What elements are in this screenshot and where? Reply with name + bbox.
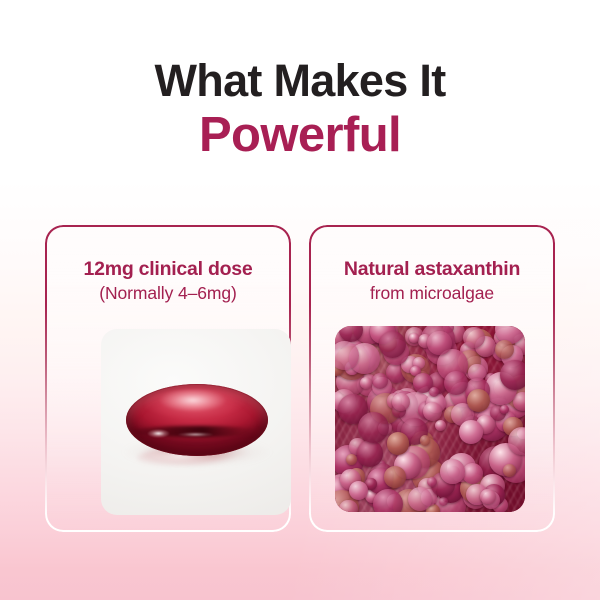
capsule-image [101,329,291,515]
microalgae-cell [459,420,483,444]
feature-card-group: 12mg clinical dose (Normally 4–6mg) [44,224,556,534]
microalgae-cell [444,371,468,395]
microalgae-cell [358,412,389,443]
card-subtitle-natural-astaxanthin: from microalgae [319,282,545,304]
red-softgel-capsule-icon [126,384,268,456]
microalgae-image [335,326,525,512]
headline-line-1: What Makes It [0,56,600,106]
microalgae-cell [420,435,430,445]
microalgae-cell [429,387,439,397]
headline-line-2: Powerful [0,108,600,162]
microalgae-cell [346,454,357,465]
microalgae-cell [373,489,403,512]
microalgae-cell [480,489,495,504]
microalgae-cell [357,440,383,466]
microalgae-cell [384,466,406,488]
capsule-scene-background [101,329,291,515]
microalgae-cell [427,331,451,355]
microalgae-cell [500,405,509,414]
card-subtitle-clinical-dose: (Normally 4–6mg) [55,282,281,304]
microalgae-cell-cluster [335,326,525,512]
microalgae-scene-background [335,326,525,512]
card-text-block-natural-astaxanthin: Natural astaxanthin from microalgae [319,258,545,304]
microalgae-cell [379,331,406,358]
microalgae-cell [435,420,446,431]
microalgae-cell [463,327,484,348]
card-title-natural-astaxanthin: Natural astaxanthin [319,258,545,281]
microalgae-cell [387,432,410,455]
microalgae-cell [500,360,525,390]
microalgae-cell [440,459,465,484]
microalgae-cell [423,402,442,421]
feature-card-natural-astaxanthin: Natural astaxanthin from microalgae [308,224,556,533]
microalgae-cell [339,500,357,512]
page-title: What Makes It Powerful [0,56,600,162]
feature-card-clinical-dose: 12mg clinical dose (Normally 4–6mg) [44,224,292,533]
promo-poster: What Makes It Powerful 12mg clinical dos… [0,0,600,600]
microalgae-cell [392,393,410,411]
microalgae-cell [349,481,368,500]
capsule-rim [126,384,268,456]
card-text-block-clinical-dose: 12mg clinical dose (Normally 4–6mg) [55,258,281,304]
microalgae-cell [409,333,418,342]
card-title-clinical-dose: 12mg clinical dose [55,258,281,281]
